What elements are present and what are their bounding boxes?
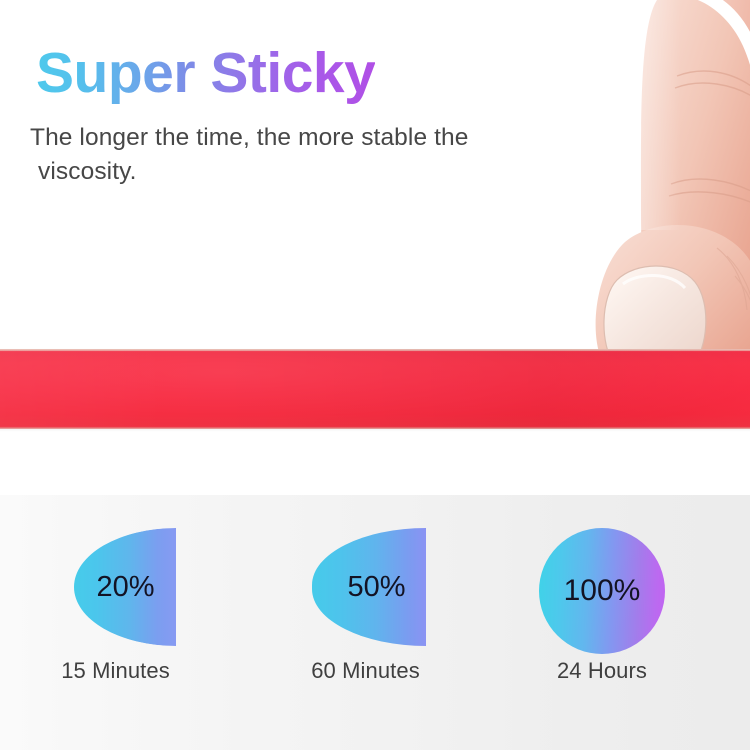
gauge-wrap-20: 20% — [18, 528, 213, 656]
hero-section: Super Sticky The longer the time, the mo… — [0, 0, 750, 495]
page-title: Super Sticky — [36, 44, 375, 104]
pie-chart-20-percent: 20% — [56, 528, 176, 646]
stat-label-24-hours: 24 Hours — [502, 658, 702, 684]
stat-label-60-minutes: 60 Minutes — [268, 658, 463, 684]
pie-chart-100-percent: 100% — [539, 528, 665, 654]
strip-sheen — [0, 349, 750, 429]
pie-value-label-50: 50% — [306, 528, 426, 646]
adhesion-stats-panel: 20% 15 Minutes 50% 60 Minutes 100% — [0, 495, 750, 750]
stat-item-24-hours: 100% 24 Hours — [502, 495, 702, 750]
stat-item-15-minutes: 20% 15 Minutes — [18, 495, 213, 750]
stat-item-60-minutes: 50% 60 Minutes — [268, 495, 463, 750]
hero-subtitle: The longer the time, the more stable the… — [30, 121, 570, 189]
gauge-wrap-50: 50% — [268, 528, 463, 656]
pie-value-label-100: 100% — [539, 528, 665, 654]
pie-chart-50-percent: 50% — [306, 528, 426, 646]
product-feature-page: Super Sticky The longer the time, the mo… — [0, 0, 750, 750]
red-adhesive-strip — [0, 349, 750, 429]
hero-subtitle-line-1: The longer the time, the more stable the — [30, 124, 468, 151]
stat-label-15-minutes: 15 Minutes — [18, 658, 213, 684]
gauge-wrap-100: 100% — [502, 528, 702, 656]
hero-subtitle-line-2: viscosity. — [30, 155, 570, 189]
pie-value-label-20: 20% — [56, 528, 176, 646]
